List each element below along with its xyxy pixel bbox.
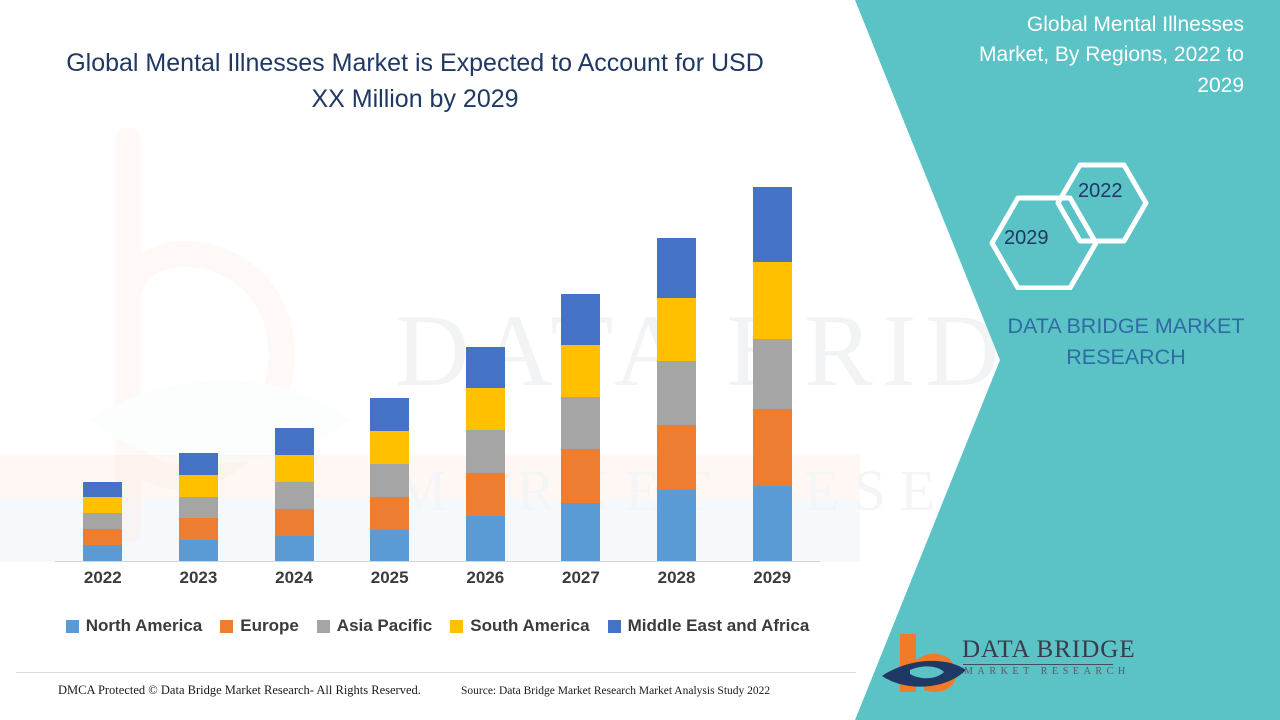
legend-item[interactable]: North America [66, 616, 203, 636]
footer-divider [16, 672, 856, 673]
x-axis-label-2024: 2024 [246, 568, 342, 588]
copyright-notice: DMCA Protected © Data Bridge Market Rese… [58, 683, 421, 698]
legend-label: South America [470, 616, 589, 636]
stacked-bar-chart [55, 150, 820, 562]
bar-group-2025 [342, 153, 438, 561]
stacked-bar [275, 428, 314, 561]
legend-item[interactable]: Middle East and Africa [608, 616, 810, 636]
bar-segment [179, 475, 218, 497]
bar-segment [83, 482, 122, 497]
bar-segment [753, 486, 792, 561]
bar-segment [657, 425, 696, 490]
bar-segment [179, 540, 218, 561]
bar-segment [657, 298, 696, 361]
bar-segment [275, 536, 314, 561]
bar-segment [561, 449, 600, 503]
hexagon-2029-label: 2029 [1004, 227, 1049, 250]
hexagon-2022-label: 2022 [1078, 180, 1123, 203]
source-note: Source: Data Bridge Market Research Mark… [461, 685, 770, 697]
infographic-canvas: DATA BRIDGE MARKET RESEARCH Global Menta… [0, 0, 1280, 720]
bar-segment [370, 431, 409, 464]
legend-label: Middle East and Africa [628, 616, 810, 636]
x-axis-label-2029: 2029 [724, 568, 820, 588]
bar-segment [275, 482, 314, 509]
bar-segment [179, 518, 218, 540]
brand-name: DATA BRIDGE MARKET RESEARCH [985, 311, 1267, 373]
logo-swoosh-cut [910, 666, 944, 678]
chart-bars-container [55, 153, 820, 561]
x-axis-label-2027: 2027 [533, 568, 629, 588]
legend-swatch-icon [317, 620, 330, 633]
bar-segment [83, 497, 122, 513]
x-axis-label-2022: 2022 [55, 568, 151, 588]
stacked-bar [657, 238, 696, 561]
hexagon-badges: 2029 2022 [980, 145, 1180, 290]
bar-segment [83, 545, 122, 561]
bar-segment [753, 339, 792, 409]
bar-segment [561, 397, 600, 449]
x-axis-labels: 20222023202420252026202720282029 [55, 568, 820, 588]
bar-segment [275, 455, 314, 482]
x-axis-label-2023: 2023 [151, 568, 247, 588]
legend-swatch-icon [450, 620, 463, 633]
bar-group-2023 [151, 153, 247, 561]
logo-rule [963, 664, 1113, 665]
legend-item[interactable]: Asia Pacific [317, 616, 432, 636]
bar-segment [83, 529, 122, 545]
bar-segment [466, 430, 505, 473]
stacked-bar [561, 294, 600, 561]
bar-segment [466, 347, 505, 388]
panel-title: Global Mental Illnesses Market, By Regio… [974, 10, 1244, 101]
logo-subtitle: MARKET RESEARCH [964, 666, 1130, 677]
bar-segment [179, 497, 218, 518]
bar-segment [657, 490, 696, 561]
hexagon-2029-shape [992, 198, 1096, 288]
stacked-bar [753, 187, 792, 561]
x-axis-line [55, 561, 820, 562]
bar-group-2024 [246, 153, 342, 561]
hexagon-2022-shape [1058, 165, 1146, 241]
bar-segment [753, 262, 792, 339]
bar-group-2022 [55, 153, 151, 561]
bar-segment [370, 530, 409, 561]
bar-segment [753, 187, 792, 262]
logo-swoosh [882, 661, 966, 687]
data-bridge-logo: DATA BRIDGE MARKET RESEARCH [880, 630, 1120, 700]
x-axis-label-2025: 2025 [342, 568, 438, 588]
bar-segment [466, 516, 505, 561]
stacked-bar [179, 453, 218, 561]
bar-group-2029 [724, 153, 820, 561]
bar-segment [275, 509, 314, 536]
legend-swatch-icon [608, 620, 621, 633]
legend-label: North America [86, 616, 203, 636]
bar-segment [370, 464, 409, 497]
legend-label: Europe [240, 616, 299, 636]
bar-segment [370, 398, 409, 431]
bar-segment [83, 513, 122, 529]
chart-legend: North AmericaEuropeAsia PacificSouth Ame… [55, 616, 820, 636]
logo-b-mark [900, 634, 956, 692]
bar-segment [561, 345, 600, 397]
bar-group-2027 [533, 153, 629, 561]
bar-segment [657, 238, 696, 298]
stacked-bar [83, 482, 122, 561]
bar-segment [561, 294, 600, 345]
legend-swatch-icon [220, 620, 233, 633]
page-title: Global Mental Illnesses Market is Expect… [62, 46, 768, 117]
legend-swatch-icon [66, 620, 79, 633]
stacked-bar [370, 398, 409, 561]
x-axis-label-2028: 2028 [629, 568, 725, 588]
bar-group-2026 [438, 153, 534, 561]
bar-segment [657, 361, 696, 425]
bar-segment [466, 473, 505, 516]
bar-segment [179, 453, 218, 475]
bar-group-2028 [629, 153, 725, 561]
bar-segment [466, 388, 505, 430]
legend-item[interactable]: South America [450, 616, 589, 636]
stacked-bar [466, 347, 505, 561]
legend-label: Asia Pacific [337, 616, 432, 636]
legend-item[interactable]: Europe [220, 616, 299, 636]
bar-segment [561, 503, 600, 561]
bar-segment [753, 409, 792, 486]
bar-segment [370, 497, 409, 530]
bar-segment [275, 428, 314, 455]
logo-title: DATA BRIDGE [962, 636, 1136, 664]
x-axis-label-2026: 2026 [438, 568, 534, 588]
